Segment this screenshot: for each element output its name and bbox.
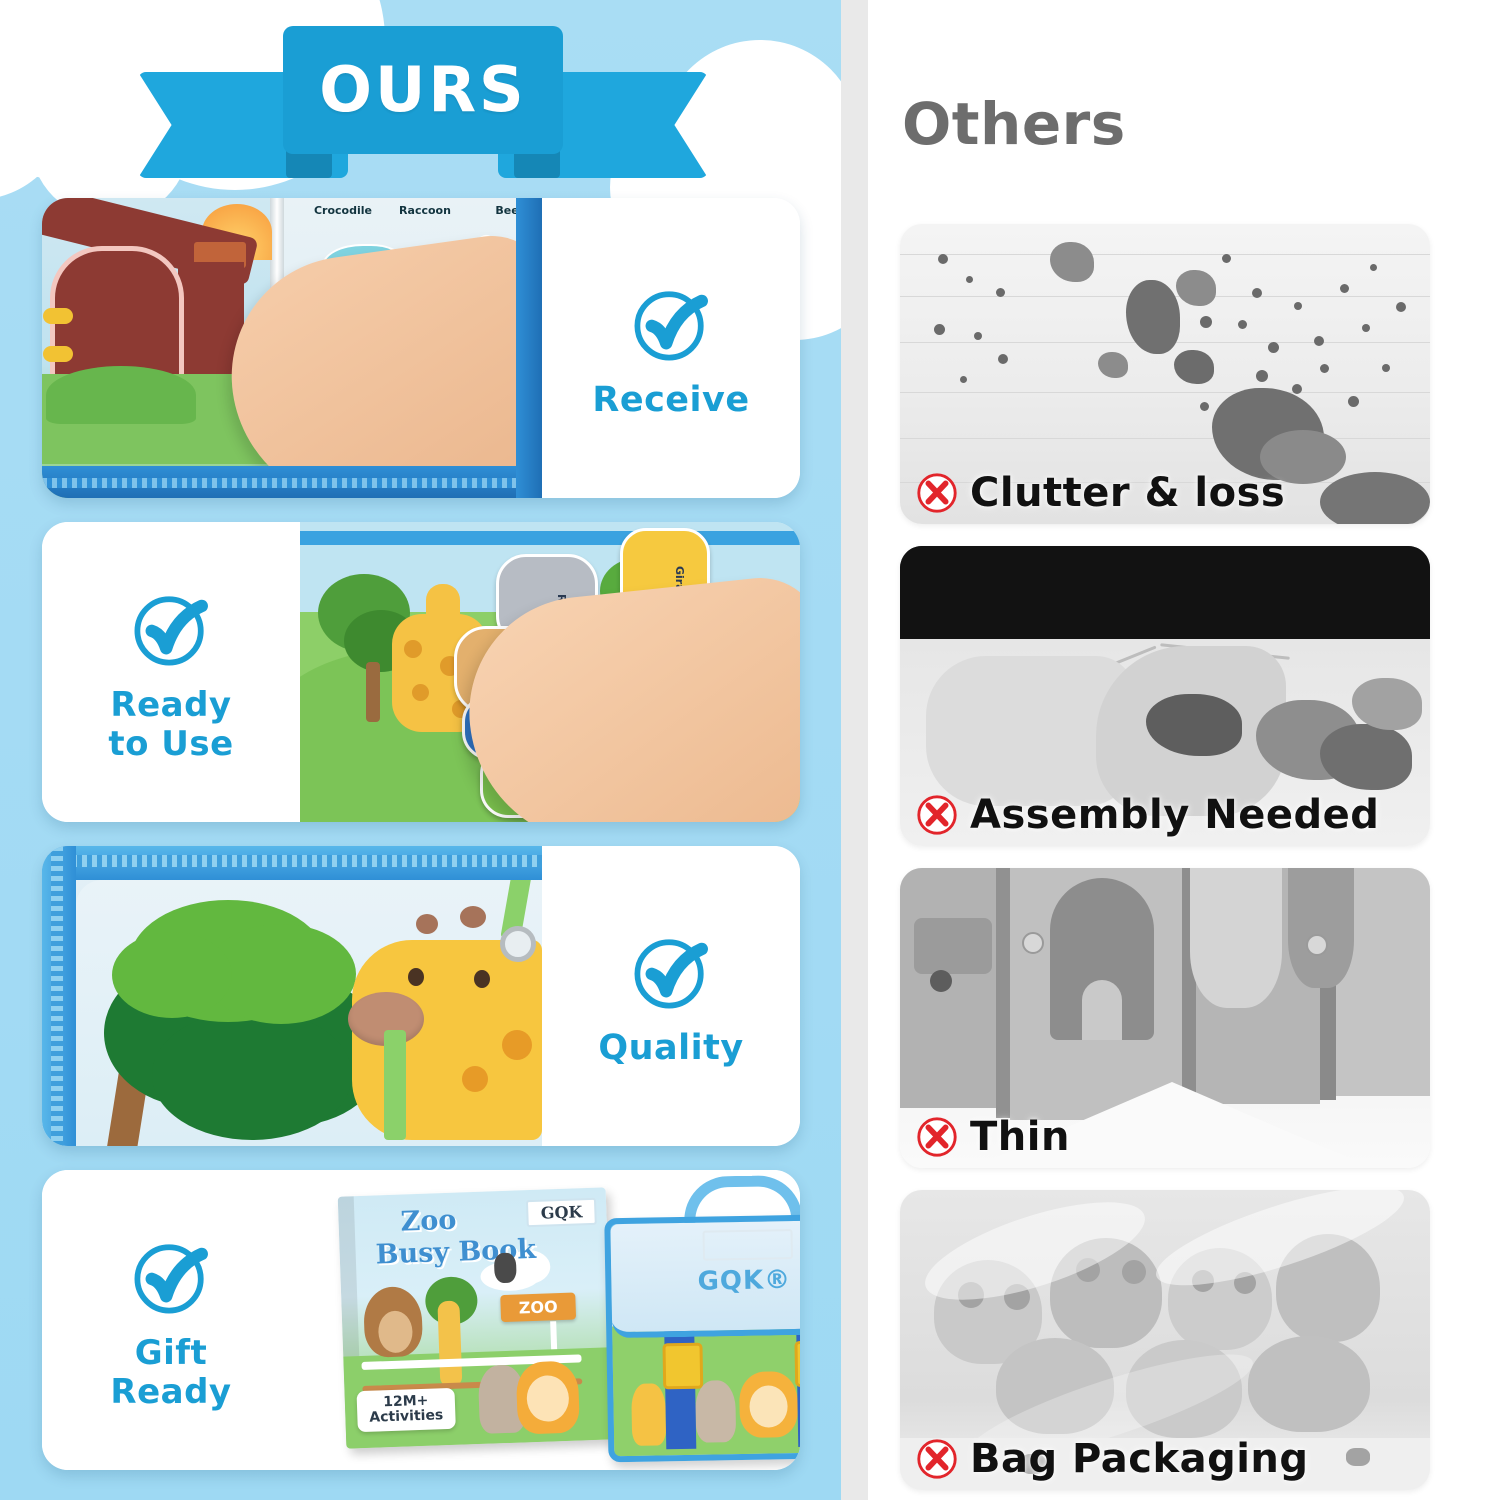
caption-crocodile: Crocodile: [308, 204, 378, 217]
x-circle-icon: [914, 1114, 960, 1160]
label-text-line1: Gift: [135, 1335, 208, 1372]
check-circle-icon: [623, 276, 719, 372]
label-text: Receive: [592, 382, 749, 420]
label-gift-ready: Gift Ready: [42, 1170, 300, 1470]
ribbon-center: OURS: [283, 26, 563, 154]
box-activities-badge: 12M+ Activities: [356, 1387, 455, 1432]
ours-row-receive: Crocodile Raccoon Bee Whale Elephant: [42, 198, 800, 498]
photo-felt-tree-giraffe: [42, 846, 542, 1146]
badge-label: Assembly Needed: [970, 792, 1379, 838]
zipper-bottom: [42, 466, 542, 498]
felt-truck-shape: [914, 918, 992, 974]
others-item-bag-packaging: Bag Packaging: [900, 1190, 1430, 1490]
label-quality: Quality: [542, 846, 800, 1146]
check-circle-icon: [123, 581, 219, 677]
badge-clutter: Clutter & loss: [914, 470, 1285, 516]
others-item-clutter: Clutter & loss: [900, 224, 1430, 524]
ours-ribbon-banner: OURS: [138, 26, 708, 178]
monkey-illustration: [494, 1253, 517, 1284]
ours-row-quality: Quality: [42, 846, 800, 1146]
label-text: Quality: [598, 1030, 743, 1068]
photo-finger-puppets: Giraffe Raccoon Monkey Whale Crocodile: [300, 522, 800, 822]
label-text-line2: to Use: [108, 726, 233, 763]
label-text-line2: Ready: [110, 1374, 231, 1411]
badge-label: Thin: [970, 1114, 1070, 1160]
badge-thin: Thin: [914, 1114, 1070, 1160]
giraffe-illustration: [437, 1301, 462, 1388]
others-item-assembly: Assembly Needed: [900, 546, 1430, 846]
bag-brand: GQK®: [611, 1264, 800, 1299]
zipper-right: [516, 198, 542, 498]
box-brand: GQK: [526, 1198, 596, 1227]
check-circle-icon: [623, 924, 719, 1020]
others-title: Others: [902, 90, 1126, 158]
badge-label: Clutter & loss: [970, 470, 1285, 516]
photo-gift-box-and-bag: Zoo Busy Book GQK ZOO: [300, 1170, 800, 1470]
others-panel: Others: [868, 0, 1500, 1500]
ours-row-gift-ready: Gift Ready Zoo Busy Book GQK ZOO: [42, 1170, 800, 1470]
x-circle-icon: [914, 470, 960, 516]
label-receive: Receive: [542, 198, 800, 498]
others-item-thin: Thin: [900, 868, 1430, 1168]
badge-assembly: Assembly Needed: [914, 792, 1379, 838]
box-title-line1: Zoo: [400, 1205, 457, 1238]
x-circle-icon: [914, 792, 960, 838]
carry-bag: GQK®: [598, 1176, 800, 1459]
label-text-line1: Ready: [110, 687, 231, 724]
others-card: Others: [868, 28, 1500, 1472]
box-zoo-sign: ZOO: [500, 1293, 576, 1323]
comparison-infographic: OURS: [0, 0, 1500, 1500]
caption-raccoon: Raccoon: [390, 204, 460, 217]
badge-line2: Activities: [369, 1409, 443, 1427]
ours-panel: OURS: [0, 0, 841, 1500]
label-ready-to-use: Ready to Use: [42, 522, 300, 822]
x-circle-icon: [914, 1436, 960, 1482]
product-box: Zoo Busy Book GQK ZOO: [338, 1187, 615, 1448]
check-circle-icon: [123, 1229, 219, 1325]
ours-row-ready-to-use: Ready to Use: [42, 522, 800, 822]
ours-title: OURS: [319, 59, 526, 121]
badge-bag-packaging: Bag Packaging: [914, 1436, 1309, 1482]
photo-busy-book-open: Crocodile Raccoon Bee Whale Elephant: [42, 198, 542, 498]
badge-label: Bag Packaging: [970, 1436, 1309, 1482]
